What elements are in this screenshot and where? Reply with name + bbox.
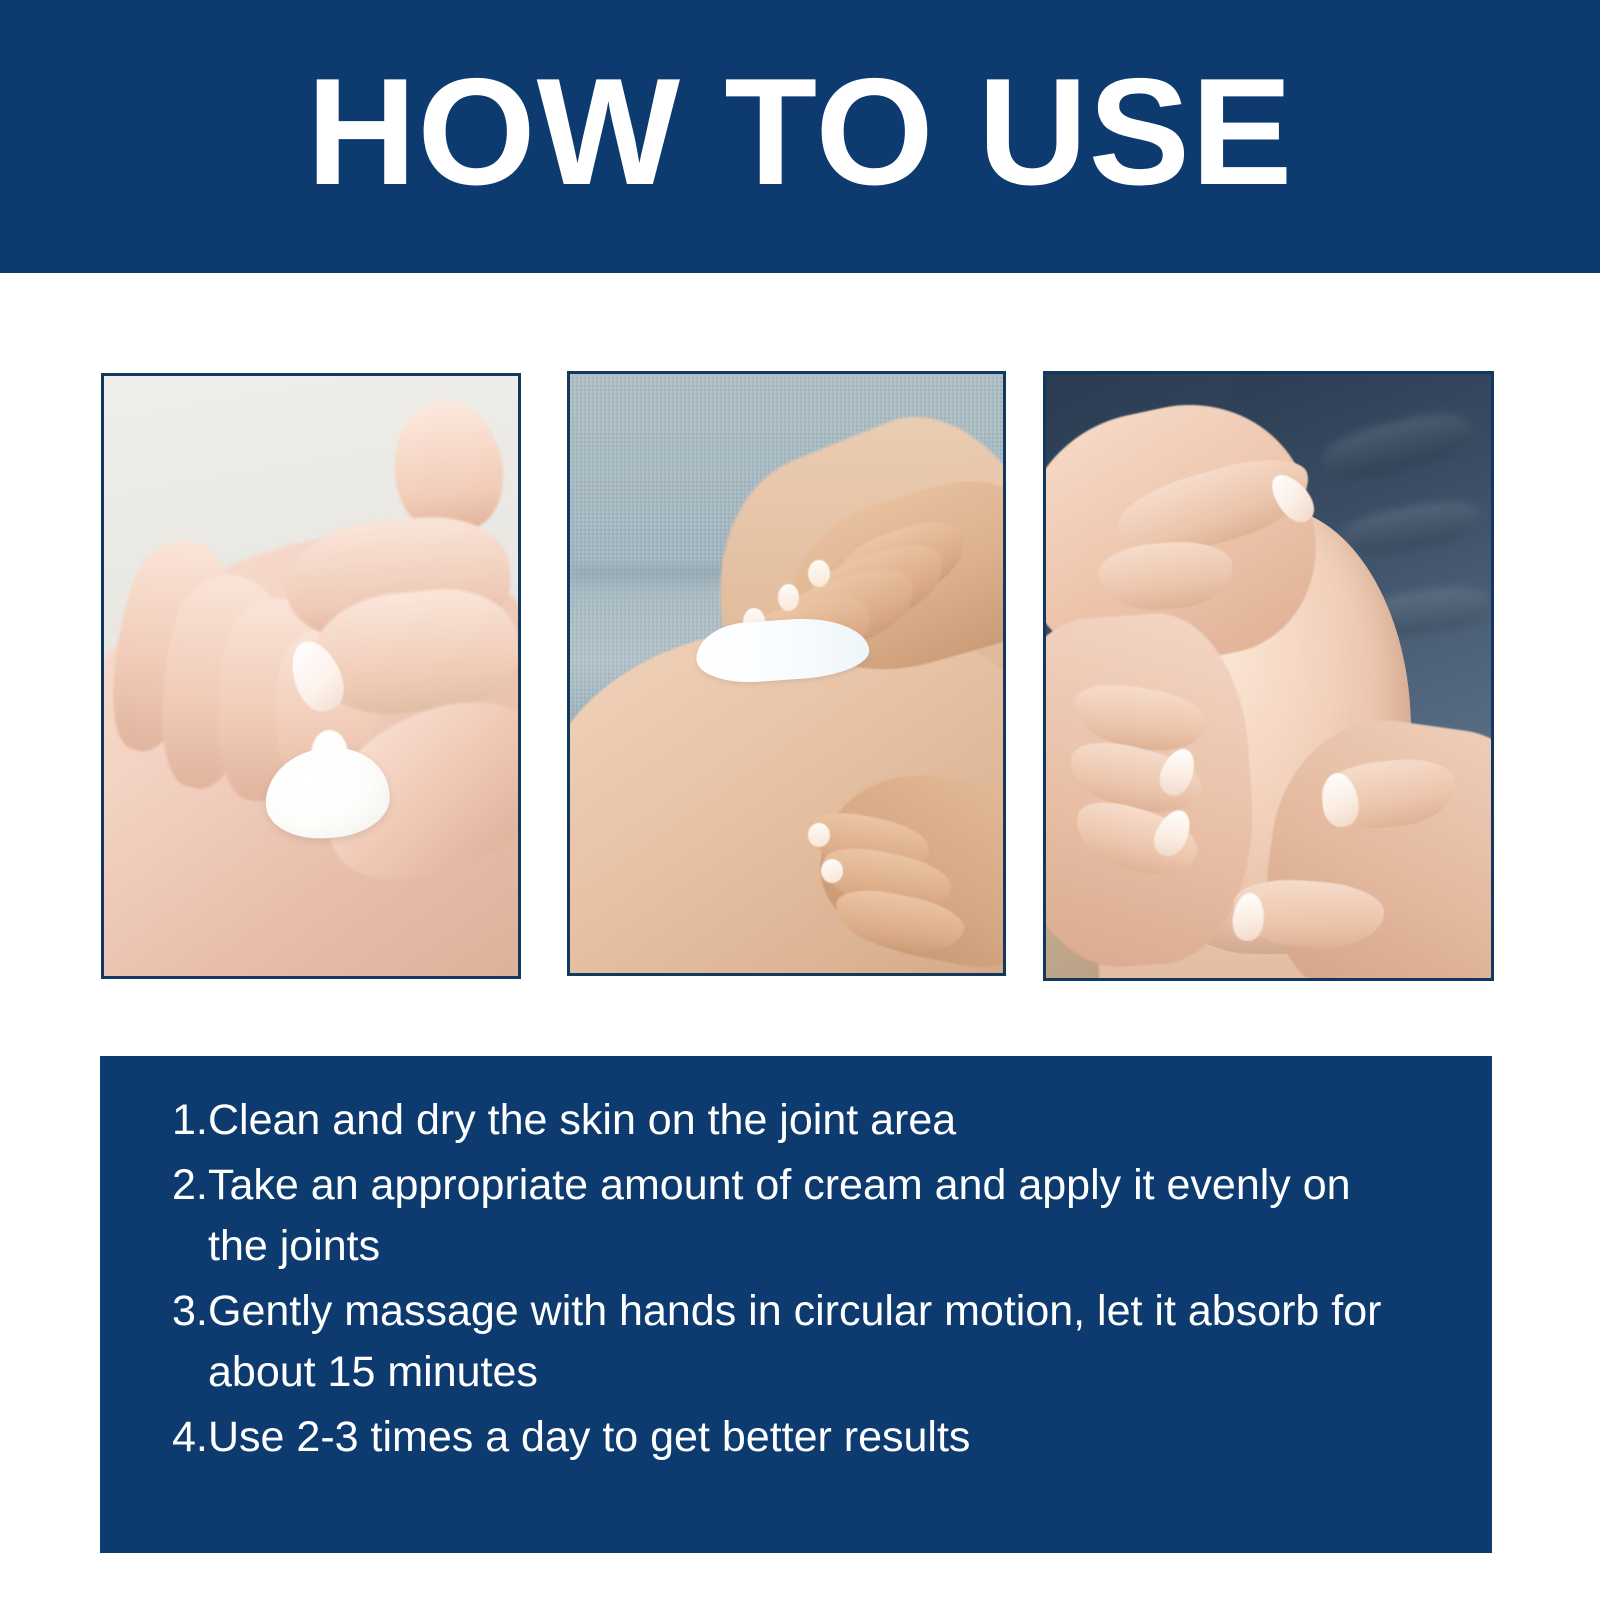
photo-hands-massaging-knee[interactable] [1043,371,1494,981]
instruction-step-4-number: 4. [140,1407,194,1468]
photo-cream-applied-to-knee[interactable] [567,371,1006,976]
instructions-list: 1. Clean and dry the skin on the joint a… [140,1090,1452,1468]
how-to-use-infographic: HOW TO USE [0,0,1600,1600]
instruction-step-1: 1. Clean and dry the skin on the joint a… [140,1090,1452,1151]
header-band: HOW TO USE [0,0,1600,273]
instructions-panel: 1. Clean and dry the skin on the joint a… [100,1056,1492,1553]
photo-2-inner [570,374,1003,973]
photo-cream-dispensed-on-palm[interactable] [101,373,521,979]
instruction-step-2-number: 2. [140,1155,194,1216]
instruction-step-2-text: Take an appropriate amount of cream and … [194,1155,1403,1277]
instruction-step-1-text: Clean and dry the skin on the joint area [194,1090,1403,1151]
instruction-step-3: 3. Gently massage with hands in circular… [140,1281,1452,1403]
photo-1-inner [104,376,518,976]
photo-2-fingernail-2 [778,584,800,611]
instruction-step-3-number: 3. [140,1281,194,1342]
instruction-step-2: 2. Take an appropriate amount of cream a… [140,1155,1452,1277]
photo-2-fingernail-3 [808,560,830,587]
photo-2-fingernail-5 [821,859,843,883]
instruction-step-4: 4. Use 2-3 times a day to get better res… [140,1407,1452,1468]
photo-2-fingernail-4 [808,823,830,847]
instruction-step-4-text: Use 2-3 times a day to get better result… [194,1407,1403,1468]
photo-3-inner [1046,374,1491,978]
page-title: HOW TO USE [0,0,1600,273]
instruction-step-3-text: Gently massage with hands in circular mo… [194,1281,1403,1403]
instruction-step-1-number: 1. [140,1090,194,1151]
